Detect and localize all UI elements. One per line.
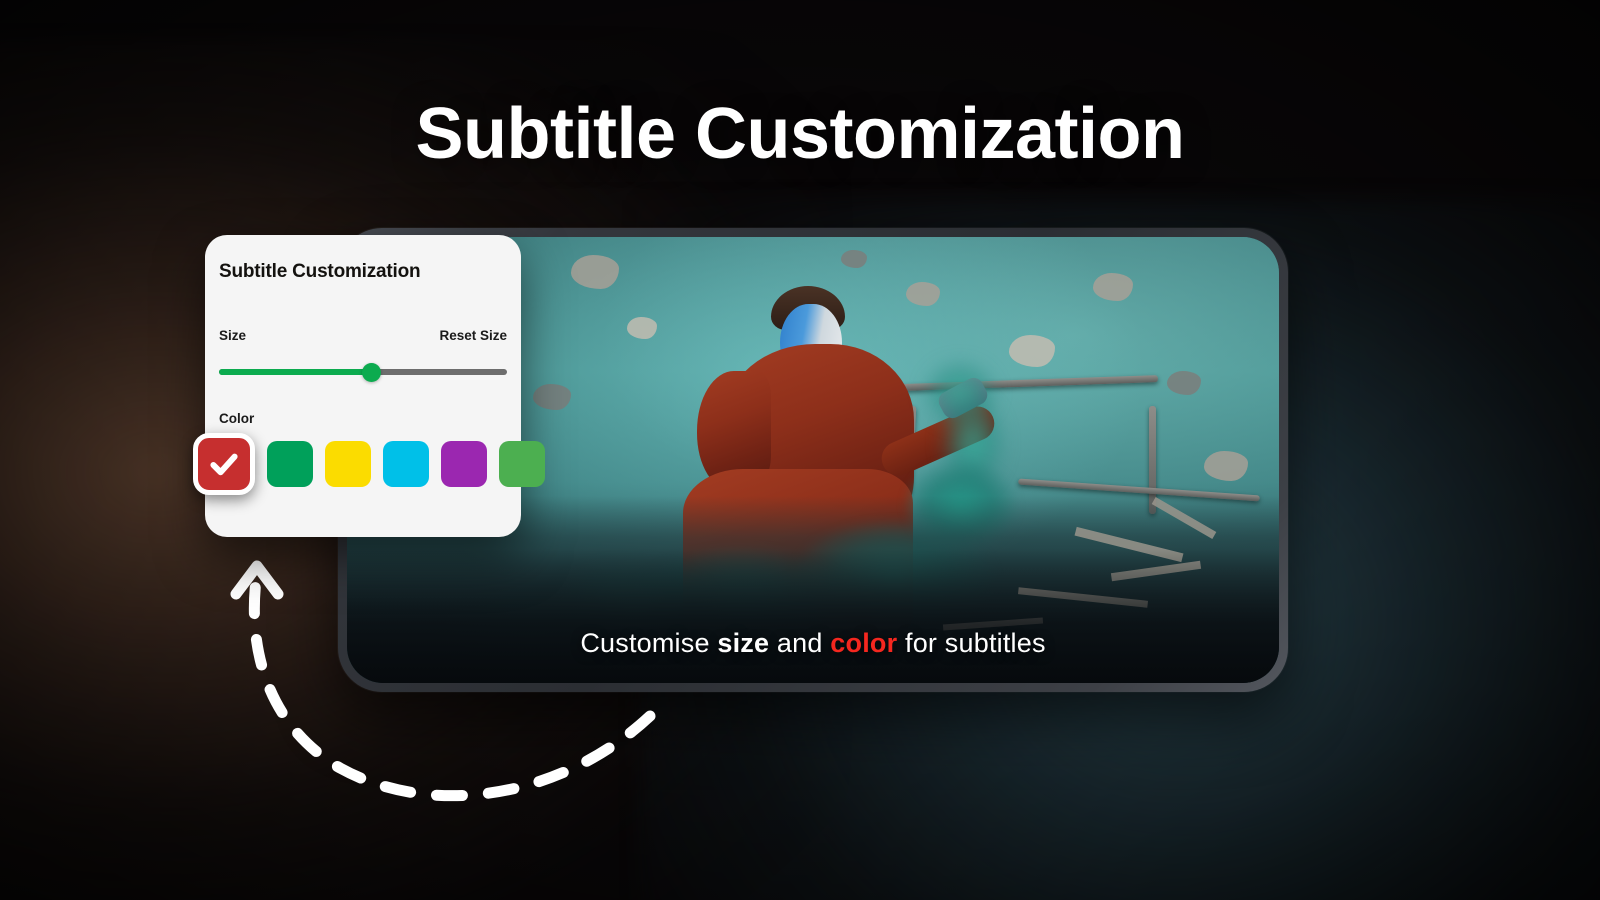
subtitle-caption: Customise size and color for subtitles [347, 628, 1279, 659]
page-title: Subtitle Customization [0, 98, 1600, 170]
panel-title: Subtitle Customization [219, 261, 420, 283]
subtitle-settings-panel: Subtitle Customization Size Reset Size C… [205, 235, 521, 537]
caption-prefix: Customise [580, 628, 717, 658]
size-label: Size [219, 328, 246, 343]
slider-fill [219, 369, 372, 375]
color-swatch-yellow[interactable] [325, 441, 371, 487]
caption-size-word: size [717, 628, 769, 658]
reset-size-button[interactable]: Reset Size [439, 328, 507, 343]
color-swatch-purple[interactable] [441, 441, 487, 487]
color-label: Color [219, 411, 254, 426]
caption-middle: and [769, 628, 830, 658]
caption-color-word: color [830, 628, 897, 658]
caption-suffix: for subtitles [897, 628, 1045, 658]
size-row-labels: Size Reset Size [219, 328, 507, 343]
color-swatch-cyan[interactable] [383, 441, 429, 487]
slider-thumb[interactable] [362, 363, 381, 382]
check-icon [207, 447, 241, 481]
size-slider[interactable] [219, 363, 507, 381]
color-swatch-red[interactable] [193, 433, 255, 495]
color-swatch-light-green[interactable] [499, 441, 545, 487]
color-swatch-green[interactable] [267, 441, 313, 487]
color-swatch-row [191, 433, 541, 495]
caption-scrim [347, 549, 1279, 683]
